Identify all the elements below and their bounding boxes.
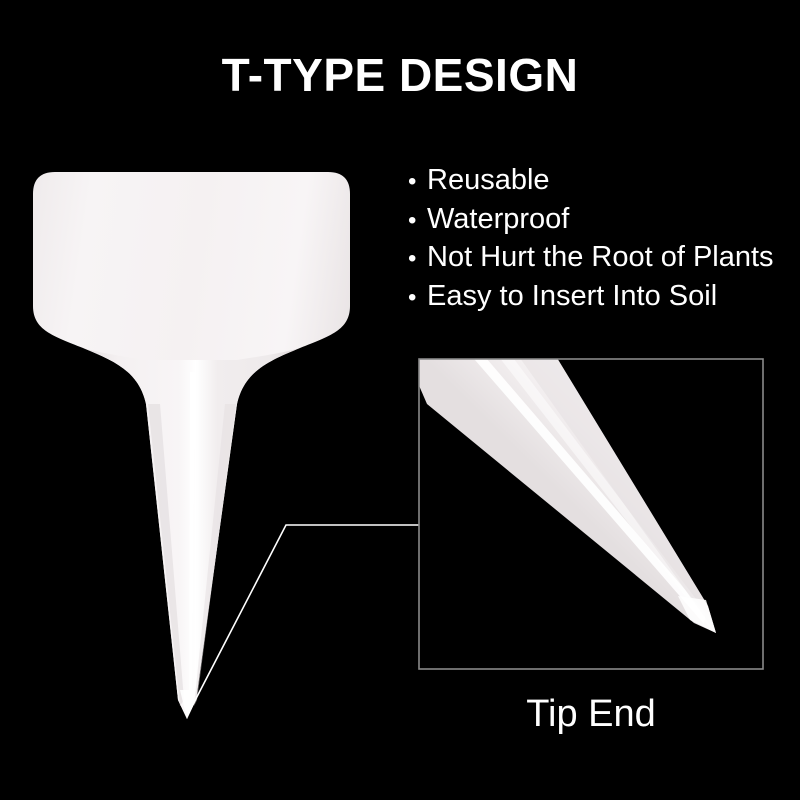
- product-artwork: [0, 0, 800, 800]
- product-infographic: T-TYPE DESIGN • Reusable • Waterproof • …: [0, 0, 800, 800]
- tip-detail-panel: [395, 330, 763, 669]
- callout-leader-line: [187, 525, 419, 716]
- t-tag-product: [33, 172, 350, 719]
- tip-end-caption: Tip End: [418, 695, 764, 733]
